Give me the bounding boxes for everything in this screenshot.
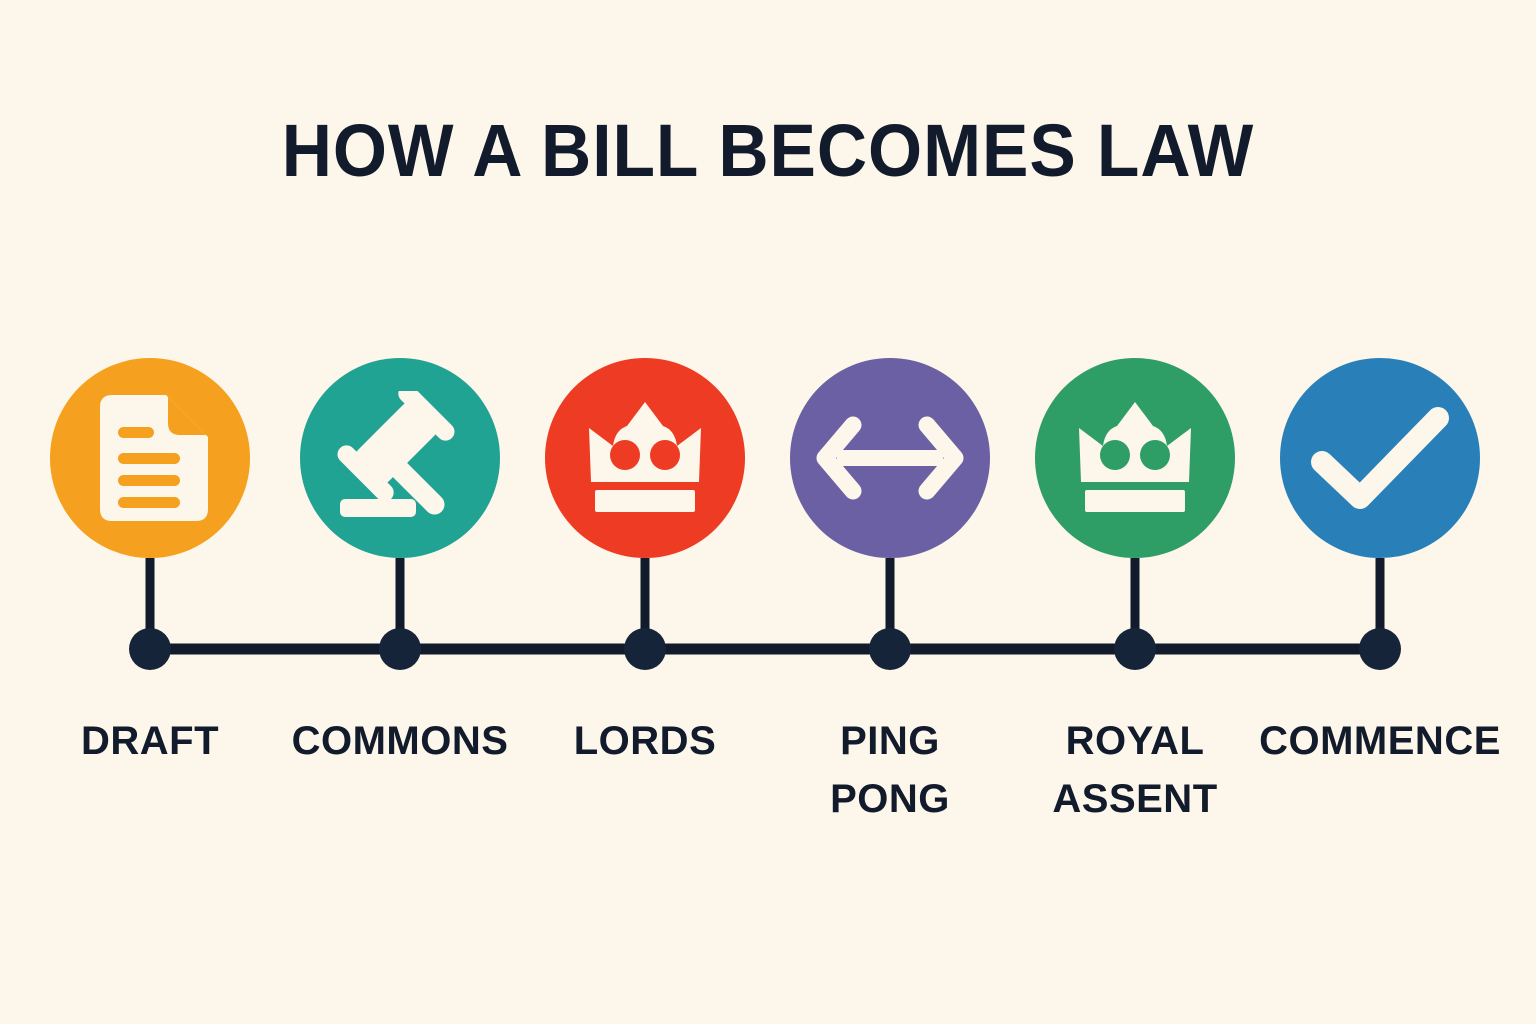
- crown-icon: [577, 402, 713, 514]
- timeline-node-draft[interactable]: [129, 628, 171, 670]
- step-icon-circle-ping-pong[interactable]: [790, 358, 990, 558]
- infographic-canvas: HOW A BILL BECOMES LAW DRAFT COMMON: [0, 0, 1536, 1024]
- step-icon-circle-draft[interactable]: [50, 358, 250, 558]
- timeline-node-ping-pong[interactable]: [869, 628, 911, 670]
- timeline-node-commence[interactable]: [1359, 628, 1401, 670]
- timeline-node-royal-assent[interactable]: [1114, 628, 1156, 670]
- step-icon-circle-royal-assent[interactable]: [1035, 358, 1235, 558]
- step-label-commence: COMMENCE: [1220, 712, 1536, 770]
- timeline-node-lords[interactable]: [624, 628, 666, 670]
- double-arrow-icon: [815, 415, 965, 501]
- crown-icon: [1067, 402, 1203, 514]
- step-icon-circle-commence[interactable]: [1280, 358, 1480, 558]
- timeline-node-commons[interactable]: [379, 628, 421, 670]
- check-icon: [1310, 406, 1450, 510]
- gavel-icon: [330, 391, 470, 526]
- step-icon-circle-lords[interactable]: [545, 358, 745, 558]
- step-icon-circle-commons[interactable]: [300, 358, 500, 558]
- document-icon: [90, 393, 210, 523]
